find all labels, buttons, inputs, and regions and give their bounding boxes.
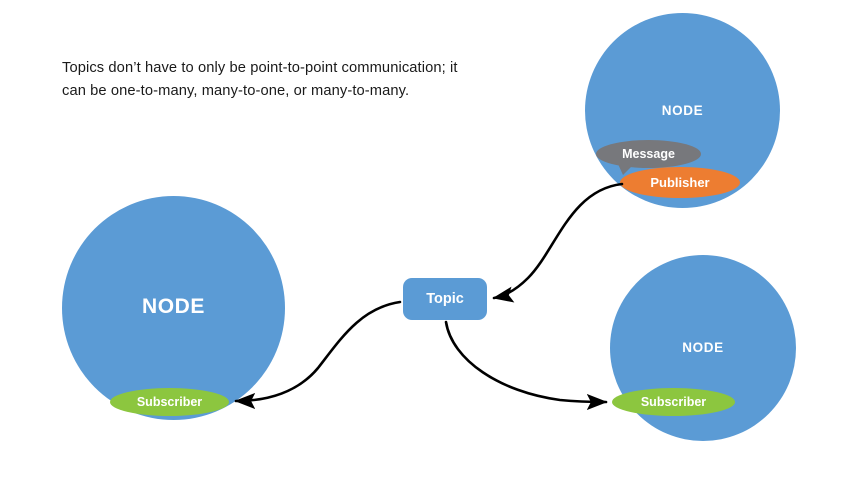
node-label-bottom-right: NODE	[610, 340, 796, 355]
arrow-topic-to-bottom-right-subscriber	[446, 322, 606, 402]
message-ellipse[interactable]: Message	[596, 140, 701, 168]
publisher-ellipse[interactable]: Publisher	[620, 167, 740, 198]
subscriber-ellipse-bottom-right[interactable]: Subscriber	[612, 388, 735, 416]
topic-box[interactable]: Topic	[403, 278, 487, 320]
diagram-canvas: Topics don’t have to only be point-to-po…	[0, 0, 854, 480]
node-label-left: NODE	[62, 295, 285, 319]
caption-text: Topics don’t have to only be point-to-po…	[62, 57, 482, 103]
node-label-top-right: NODE	[585, 103, 780, 118]
arrow-publisher-to-topic	[494, 184, 622, 298]
subscriber-ellipse-left[interactable]: Subscriber	[110, 388, 229, 416]
